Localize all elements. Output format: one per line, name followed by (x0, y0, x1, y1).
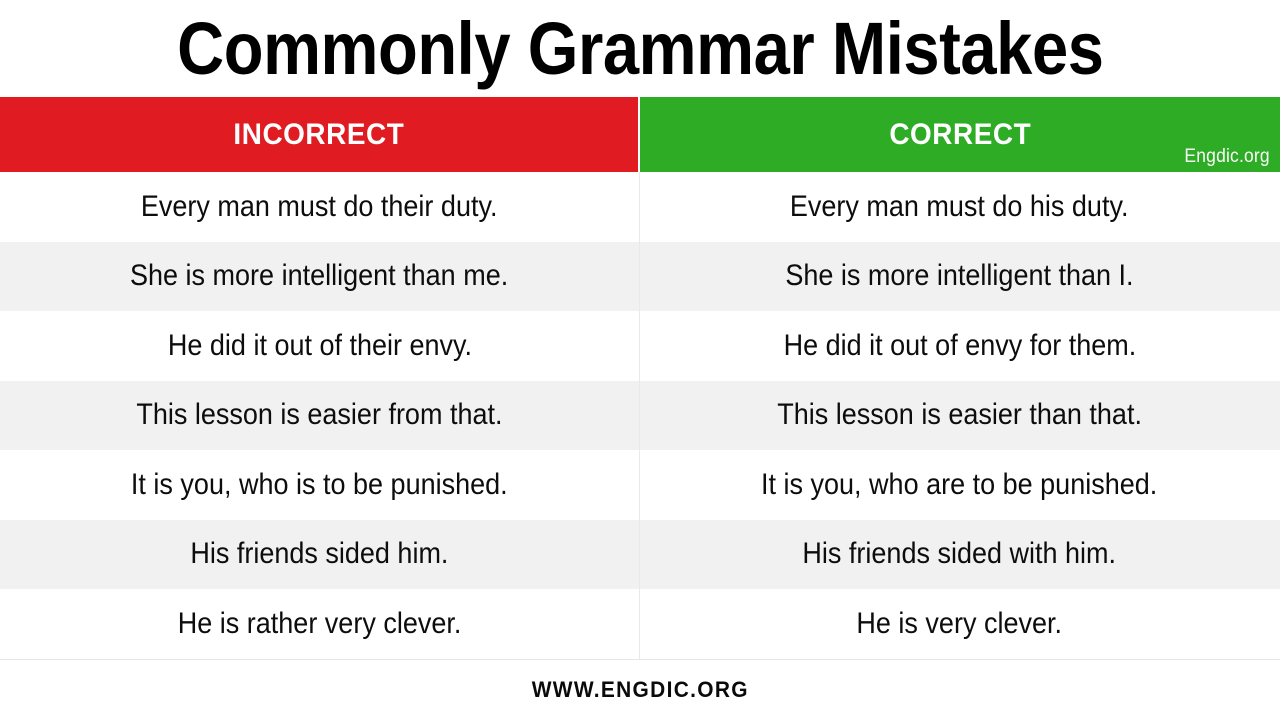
cell-incorrect: He did it out of their envy. (0, 311, 639, 381)
cell-correct: He is very clever. (639, 589, 1280, 659)
column-divider (639, 589, 640, 659)
cell-incorrect: Every man must do their duty. (0, 172, 639, 242)
cell-correct: This lesson is easier than that. (639, 381, 1280, 451)
column-divider (639, 520, 640, 590)
cell-correct-text: It is you, who are to be punished. (761, 468, 1157, 502)
page-title: Commonly Grammar Mistakes (177, 9, 1103, 89)
table-row: It is you, who is to be punished. It is … (0, 450, 1280, 520)
cell-incorrect: This lesson is easier from that. (0, 381, 639, 451)
table-header-incorrect-label: INCORRECT (234, 118, 405, 152)
site-watermark: Engdic.org (1185, 146, 1270, 168)
cell-incorrect-text: This lesson is easier from that. (136, 398, 502, 432)
cell-incorrect-text: It is you, who is to be punished. (131, 468, 508, 502)
table-row: He did it out of their envy. He did it o… (0, 311, 1280, 381)
cell-incorrect: It is you, who is to be punished. (0, 450, 639, 520)
cell-incorrect: She is more intelligent than me. (0, 242, 639, 312)
cell-correct: She is more intelligent than I. (639, 242, 1280, 312)
cell-correct-text: He is very clever. (857, 607, 1063, 641)
table-row: She is more intelligent than me. She is … (0, 242, 1280, 312)
table-header-correct-label: CORRECT (889, 118, 1031, 152)
cell-correct: He did it out of envy for them. (639, 311, 1280, 381)
table-header-incorrect: INCORRECT (0, 97, 638, 172)
cell-correct-text: His friends sided with him. (803, 537, 1117, 571)
table-header-correct: CORRECT Engdic.org (640, 97, 1280, 172)
table-body: Every man must do their duty. Every man … (0, 172, 1280, 659)
page-title-container: Commonly Grammar Mistakes (0, 0, 1280, 97)
column-divider (639, 172, 640, 242)
table-row: He is rather very clever. He is very cle… (0, 589, 1280, 659)
footer-website-label: WWW.ENGDIC.ORG (531, 677, 748, 703)
cell-incorrect-text: Every man must do their duty. (141, 190, 498, 224)
column-divider (639, 450, 640, 520)
cell-correct: Every man must do his duty. (639, 172, 1280, 242)
infographic-page: Commonly Grammar Mistakes INCORRECT CORR… (0, 0, 1280, 720)
cell-incorrect-text: She is more intelligent than me. (130, 259, 508, 293)
grammar-mistakes-table: INCORRECT CORRECT Engdic.org Every man m… (0, 97, 1280, 660)
cell-correct-text: He did it out of envy for them. (783, 329, 1136, 363)
table-header-row: INCORRECT CORRECT Engdic.org (0, 97, 1280, 172)
column-divider (639, 381, 640, 451)
cell-incorrect-text: His friends sided him. (190, 537, 448, 571)
table-row: This lesson is easier from that. This le… (0, 381, 1280, 451)
cell-incorrect: He is rather very clever. (0, 589, 639, 659)
cell-correct-text: This lesson is easier than that. (777, 398, 1142, 432)
cell-correct: His friends sided with him. (639, 520, 1280, 590)
table-row: Every man must do their duty. Every man … (0, 172, 1280, 242)
cell-incorrect-text: He did it out of their envy. (167, 329, 471, 363)
cell-correct-text: Every man must do his duty. (790, 190, 1129, 224)
footer: WWW.ENGDIC.ORG (0, 660, 1280, 720)
column-divider (639, 242, 640, 312)
column-divider (639, 311, 640, 381)
table-row: His friends sided him. His friends sided… (0, 520, 1280, 590)
cell-incorrect: His friends sided him. (0, 520, 639, 590)
cell-incorrect-text: He is rather very clever. (178, 607, 462, 641)
cell-correct: It is you, who are to be punished. (639, 450, 1280, 520)
cell-correct-text: She is more intelligent than I. (785, 259, 1133, 293)
